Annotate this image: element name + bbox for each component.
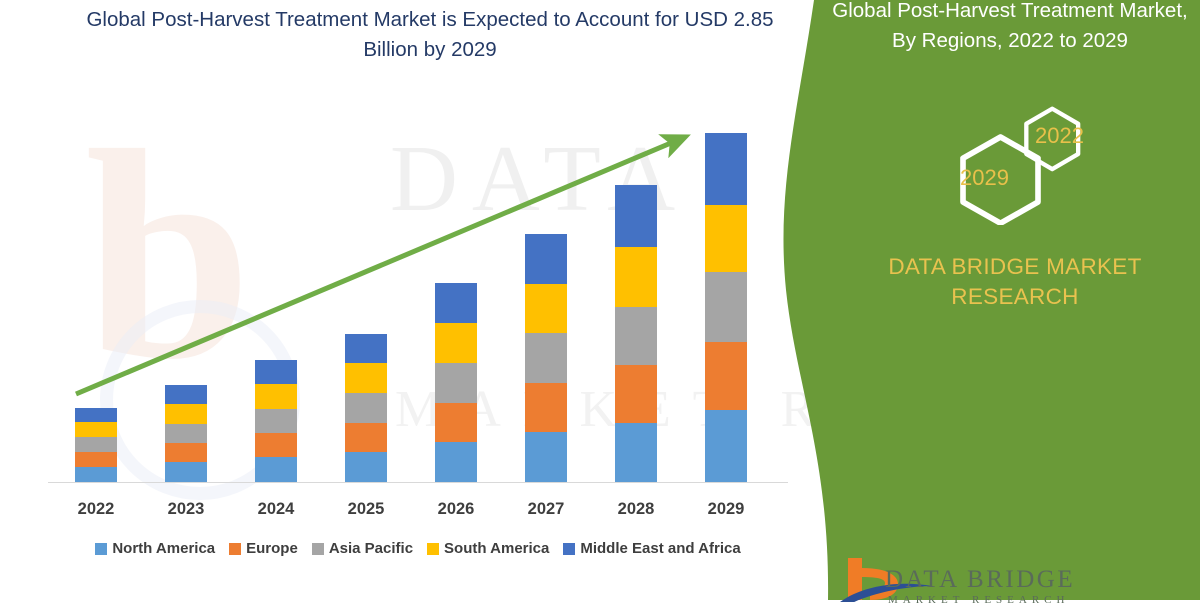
bar-segment[interactable] [705, 342, 747, 410]
legend-item[interactable]: Europe [229, 540, 298, 557]
chart-legend: North AmericaEuropeAsia PacificSouth Ame… [48, 540, 788, 557]
bar-segment[interactable] [75, 452, 117, 467]
bar-segment[interactable] [525, 432, 567, 482]
legend-item[interactable]: Middle East and Africa [563, 540, 740, 557]
bar-segment[interactable] [165, 385, 207, 404]
x-axis-label-2022: 2022 [51, 500, 141, 519]
hexagon-label-2029: 2029 [960, 165, 1009, 191]
bar-segment[interactable] [75, 467, 117, 482]
bar-segment[interactable] [435, 403, 477, 442]
bar-2026[interactable] [435, 283, 477, 482]
bar-segment[interactable] [705, 205, 747, 272]
bar-segment[interactable] [615, 365, 657, 423]
bar-2027[interactable] [525, 234, 567, 482]
footer-logo-text: DATA BRIDGE [885, 566, 1075, 594]
bar-segment[interactable] [705, 272, 747, 342]
bar-2023[interactable] [165, 385, 207, 482]
legend-label: North America [112, 540, 215, 557]
bar-segment[interactable] [75, 422, 117, 437]
bar-segment[interactable] [525, 234, 567, 284]
bar-segment[interactable] [615, 307, 657, 365]
x-axis-label-2024: 2024 [231, 500, 321, 519]
legend-item[interactable]: Asia Pacific [312, 540, 413, 557]
bar-segment[interactable] [75, 437, 117, 452]
legend-item[interactable]: South America [427, 540, 549, 557]
bar-segment[interactable] [615, 423, 657, 482]
bar-segment[interactable] [345, 363, 387, 393]
x-axis-label-2028: 2028 [591, 500, 681, 519]
bar-segment[interactable] [525, 333, 567, 383]
bar-segment[interactable] [615, 185, 657, 247]
legend-label: South America [444, 540, 549, 557]
footer-logo-subtext: MARKET RESEARCH [888, 594, 1069, 606]
legend-swatch-icon [95, 543, 107, 555]
bar-segment[interactable] [255, 360, 297, 384]
bar-segment[interactable] [345, 334, 387, 363]
legend-label: Asia Pacific [329, 540, 413, 557]
bar-segment[interactable] [525, 284, 567, 333]
brand-name-line2: RESEARCH [850, 282, 1180, 312]
x-axis-label-2027: 2027 [501, 500, 591, 519]
hexagon-badges [920, 95, 1110, 225]
bar-segment[interactable] [165, 404, 207, 424]
legend-swatch-icon [427, 543, 439, 555]
bar-segment[interactable] [255, 384, 297, 409]
bar-segment[interactable] [75, 408, 117, 422]
bar-segment[interactable] [345, 423, 387, 452]
bar-2029[interactable] [705, 133, 747, 482]
bar-segment[interactable] [255, 457, 297, 482]
bar-segment[interactable] [435, 442, 477, 482]
legend-swatch-icon [563, 543, 575, 555]
bar-segment[interactable] [255, 433, 297, 457]
bar-segment[interactable] [435, 323, 477, 363]
stacked-bar-chart: 20222023202420252026202720282029 [0, 0, 810, 600]
legend-item[interactable]: North America [95, 540, 215, 557]
panel-title: Global Post-Harvest Treatment Market, By… [820, 0, 1200, 56]
bar-segment[interactable] [435, 363, 477, 403]
bar-segment[interactable] [705, 133, 747, 205]
x-axis-label-2029: 2029 [681, 500, 771, 519]
bar-segment[interactable] [615, 247, 657, 307]
bar-2022[interactable] [75, 408, 117, 482]
bar-segment[interactable] [165, 443, 207, 462]
legend-swatch-icon [229, 543, 241, 555]
brand-name: DATA BRIDGE MARKET RESEARCH [850, 252, 1180, 312]
bar-segment[interactable] [345, 452, 387, 482]
x-axis-label-2026: 2026 [411, 500, 501, 519]
legend-swatch-icon [312, 543, 324, 555]
bar-segment[interactable] [435, 283, 477, 323]
bar-2028[interactable] [615, 185, 657, 482]
hexagon-label-2022: 2022 [1035, 123, 1084, 149]
x-axis-line [48, 482, 788, 483]
x-axis-label-2025: 2025 [321, 500, 411, 519]
brand-name-line1: DATA BRIDGE MARKET [850, 252, 1180, 282]
bar-segment[interactable] [705, 410, 747, 482]
bar-segment[interactable] [165, 424, 207, 443]
bar-segment[interactable] [525, 383, 567, 432]
bar-2025[interactable] [345, 334, 387, 482]
legend-label: Middle East and Africa [580, 540, 740, 557]
bar-2024[interactable] [255, 360, 297, 482]
legend-label: Europe [246, 540, 298, 557]
x-axis-label-2023: 2023 [141, 500, 231, 519]
bar-segment[interactable] [345, 393, 387, 423]
bar-segment[interactable] [165, 462, 207, 482]
bar-segment[interactable] [255, 409, 297, 433]
